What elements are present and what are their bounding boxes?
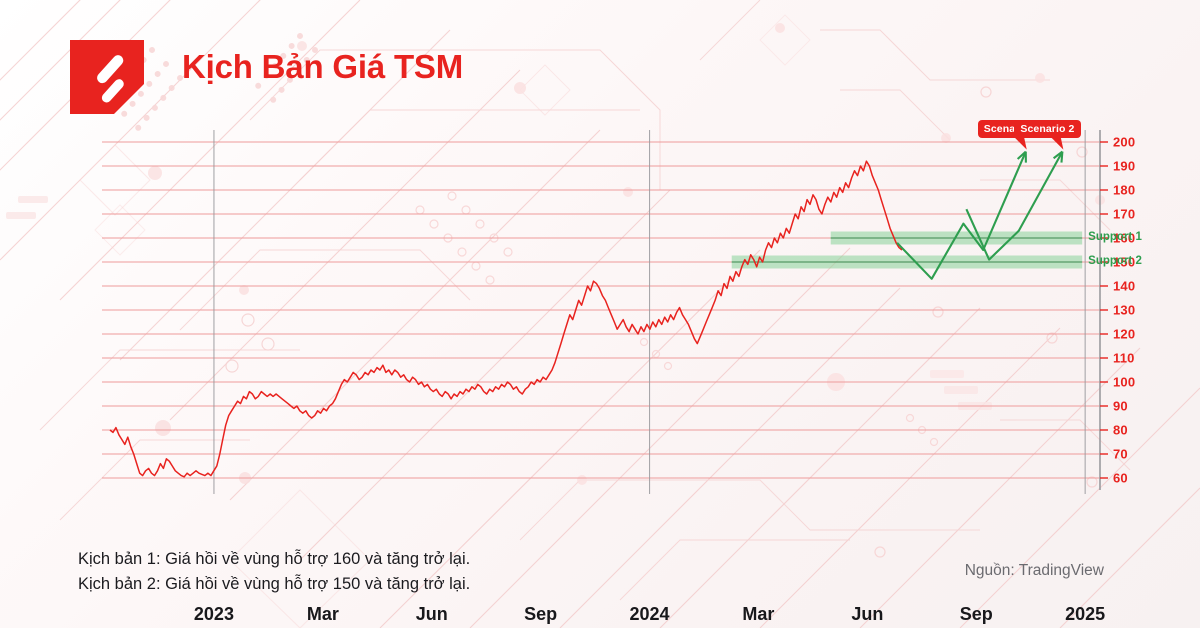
document-pen-logo-icon xyxy=(70,40,144,114)
poster-root: Kịch Bản Giá TSM 20019018017016015014013… xyxy=(0,0,1200,628)
x-tick-label-jun: Jun xyxy=(416,604,448,625)
scenario-notes: Kịch bản 1: Giá hồi về vùng hỗ trợ 160 v… xyxy=(78,547,470,597)
scenario-badge-tail-2 xyxy=(1049,136,1063,150)
y-tick-label-180: 180 xyxy=(1113,183,1135,198)
y-tick-label-80: 80 xyxy=(1113,423,1128,438)
page-title: Kịch Bản Giá TSM xyxy=(182,48,463,86)
price-line xyxy=(110,161,902,477)
scenario-2-badge[interactable]: Scenario 2 xyxy=(1014,120,1080,138)
x-tick-label-sep: Sep xyxy=(524,604,557,625)
price-polyline xyxy=(110,161,902,477)
y-tick-label-70: 70 xyxy=(1113,447,1128,462)
y-tick-label-110: 110 xyxy=(1113,351,1135,366)
scenario-note-1: Kịch bản 1: Giá hồi về vùng hỗ trợ 160 v… xyxy=(78,547,470,572)
vertical-gridlines xyxy=(214,130,1085,494)
scenario-note-2: Kịch bản 2: Giá hồi về vùng hỗ trợ 150 v… xyxy=(78,572,470,597)
y-tick-label-90: 90 xyxy=(1113,399,1128,414)
price-chart: 2001901801701601501401301201101009080706… xyxy=(0,110,1200,530)
x-tick-label-mar: Mar xyxy=(307,604,339,625)
horizontal-gridlines xyxy=(102,142,1100,478)
y-tick-label-190: 190 xyxy=(1113,159,1135,174)
y-tick-label-120: 120 xyxy=(1113,327,1135,342)
y-axis-tick-marks xyxy=(1100,142,1108,478)
y-tick-label-130: 130 xyxy=(1113,303,1135,318)
x-tick-label-jun: Jun xyxy=(851,604,883,625)
y-tick-label-140: 140 xyxy=(1113,279,1135,294)
source-attribution: Nguồn: TradingView xyxy=(965,562,1104,580)
scenario-badge-tail-1 xyxy=(1013,136,1027,150)
support-1-label: Support 1 xyxy=(1088,231,1142,243)
x-tick-label-mar: Mar xyxy=(742,604,774,625)
support-2-label: Support 2 xyxy=(1088,255,1142,267)
y-tick-label-170: 170 xyxy=(1113,207,1135,222)
x-tick-label-2023: 2023 xyxy=(194,604,234,625)
y-tick-label-200: 200 xyxy=(1113,135,1135,150)
y-tick-label-100: 100 xyxy=(1113,375,1135,390)
y-tick-label-60: 60 xyxy=(1113,471,1128,486)
x-tick-label-2024: 2024 xyxy=(630,604,670,625)
x-tick-label-2025: 2025 xyxy=(1065,604,1105,625)
x-tick-label-sep: Sep xyxy=(960,604,993,625)
